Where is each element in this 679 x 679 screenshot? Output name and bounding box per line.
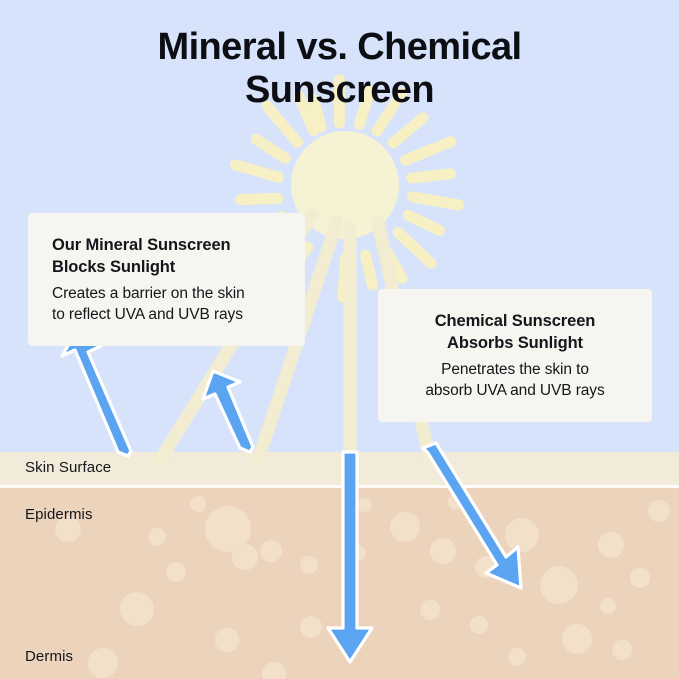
chemical-card-body-line-1: Penetrates the skin to [441,361,589,378]
mineral-card-title: Our Mineral Sunscreen Blocks Sunlight [52,235,281,279]
infographic-canvas: Mineral vs. Chemical Sunscreen Our Miner… [0,0,679,679]
skin-layer-label-skin-surface: Skin Surface [25,459,111,476]
reflect-arrow-up-left-small [203,371,253,452]
chemical-sunscreen-card[interactable]: Chemical Sunscreen Absorbs Sunlight Pene… [378,289,652,422]
page-title: Mineral vs. Chemical Sunscreen [0,26,679,111]
absorb-arrow-down-right [423,443,521,588]
chemical-card-title: Chemical Sunscreen Absorbs Sunlight [402,311,628,355]
chemical-card-title-line-1: Chemical Sunscreen [435,312,596,330]
mineral-card-body-line-1: Creates a barrier on the skin [52,285,245,302]
reflect-arrow-up-left [62,332,131,456]
page-title-line-2: Sunscreen [0,69,679,112]
mineral-card-title-line-1: Our Mineral Sunscreen [52,236,231,254]
chemical-card-body: Penetrates the skin to absorb UVA and UV… [402,359,628,401]
mineral-card-body: Creates a barrier on the skin to reflect… [52,283,281,325]
chemical-card-body-line-2: absorb UVA and UVB rays [425,382,604,399]
mineral-sunscreen-card[interactable]: Our Mineral Sunscreen Blocks Sunlight Cr… [28,213,305,346]
mineral-card-title-line-2: Blocks Sunlight [52,258,175,276]
chemical-card-title-line-2: Absorbs Sunlight [447,334,583,352]
mineral-card-body-line-2: to reflect UVA and UVB rays [52,306,243,323]
absorb-arrow-down [328,452,372,662]
skin-layer-label-dermis: Dermis [25,648,73,665]
page-title-line-1: Mineral vs. Chemical [0,26,679,69]
skin-layer-label-epidermis: Epidermis [25,506,93,523]
